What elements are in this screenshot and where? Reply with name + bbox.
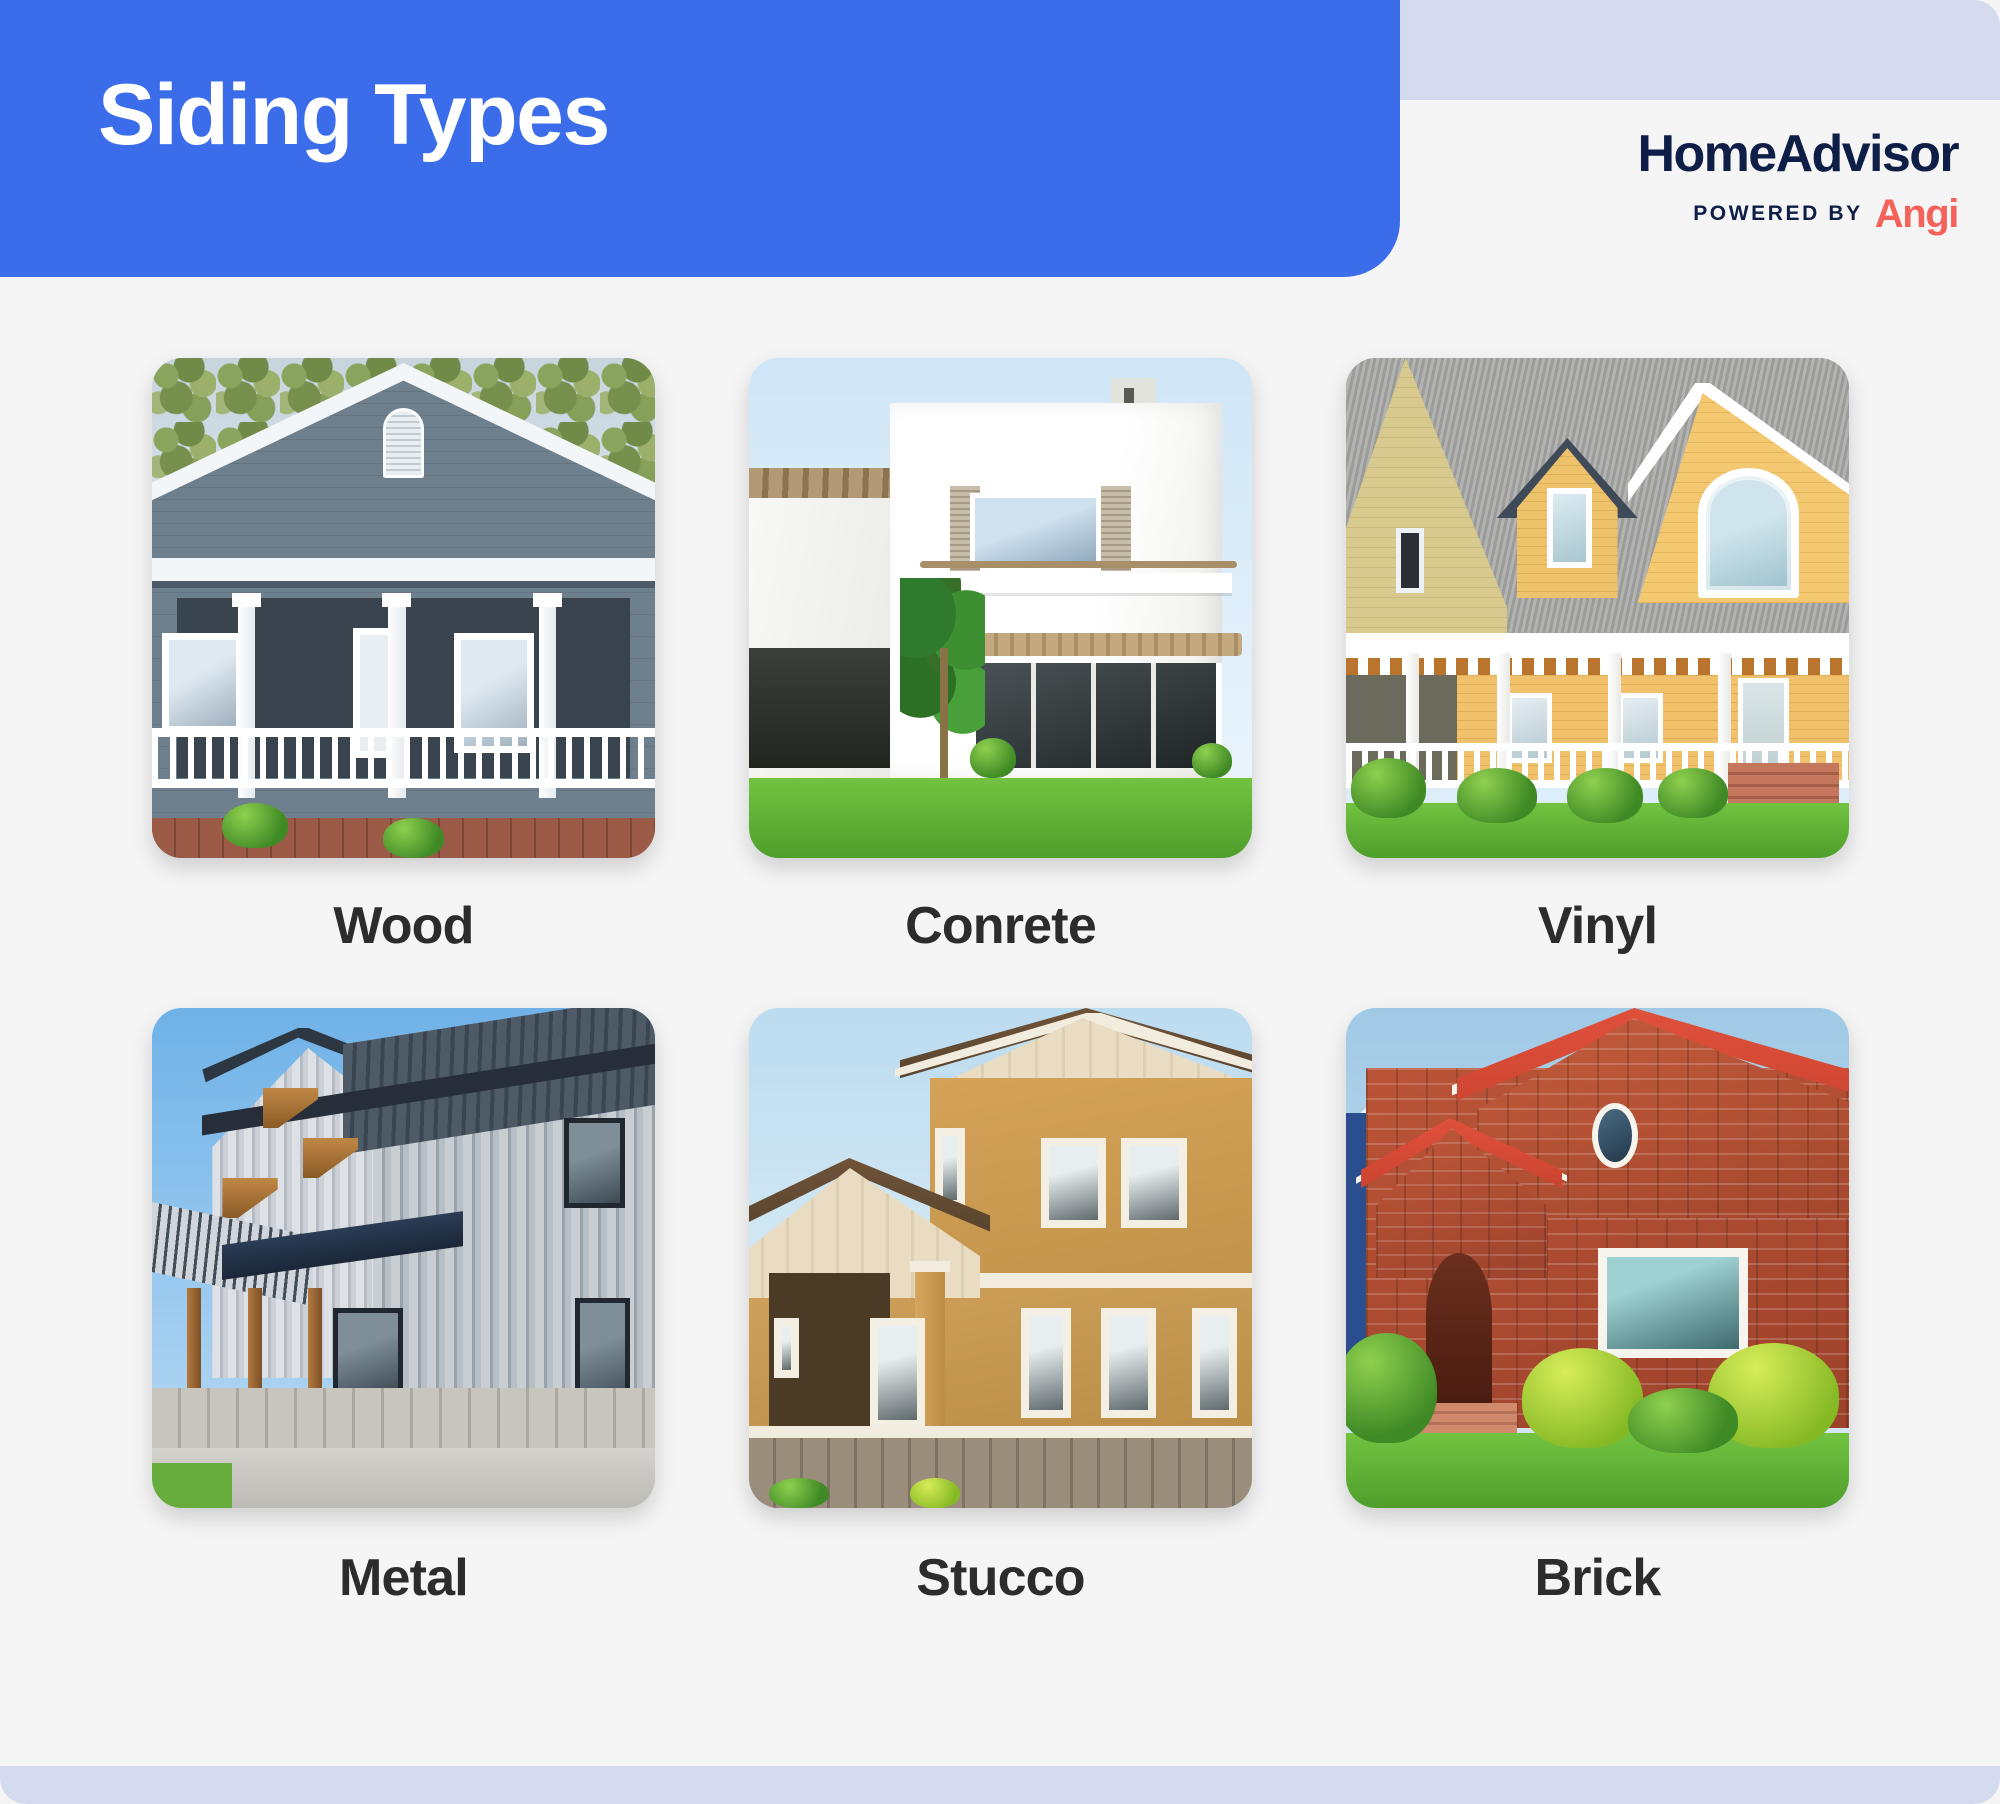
brand-lockup: HomeAdvisor POWERED BY Angi: [1638, 128, 1958, 234]
siding-tile-concrete[interactable]: Conrete: [749, 358, 1252, 956]
siding-tile-stucco[interactable]: Stucco: [749, 1008, 1252, 1608]
brand-name: HomeAdvisor: [1638, 128, 1958, 180]
tile-label-vinyl: Vinyl: [1346, 896, 1849, 956]
powered-by-label: POWERED BY: [1693, 202, 1863, 226]
bottom-accent-bar: [0, 1766, 2000, 1804]
brand-sub-lockup: POWERED BY Angi: [1638, 194, 1958, 234]
concrete-house-photo: [749, 358, 1252, 858]
tile-label-wood: Wood: [152, 896, 655, 956]
infographic-page: Siding Types HomeAdvisor POWERED BY Angi: [0, 0, 2000, 1804]
page-title: Siding Types: [98, 66, 609, 165]
top-right-accent-bar: [1400, 0, 2000, 100]
siding-types-grid: Wood: [152, 358, 1852, 1608]
tile-label-concrete: Conrete: [749, 896, 1252, 956]
wood-house-photo: [152, 358, 655, 858]
siding-tile-wood[interactable]: Wood: [152, 358, 655, 956]
stucco-house-photo: [749, 1008, 1252, 1508]
tile-label-metal: Metal: [152, 1548, 655, 1608]
siding-tile-metal[interactable]: Metal: [152, 1008, 655, 1608]
page-header: Siding Types: [0, 0, 1400, 277]
vinyl-house-photo: [1346, 358, 1849, 858]
tile-label-brick: Brick: [1346, 1548, 1849, 1608]
brick-house-photo: [1346, 1008, 1849, 1508]
metal-house-photo: [152, 1008, 655, 1508]
tile-label-stucco: Stucco: [749, 1548, 1252, 1608]
siding-tile-brick[interactable]: Brick: [1346, 1008, 1849, 1608]
angi-wordmark: Angi: [1875, 194, 1958, 234]
siding-tile-vinyl[interactable]: Vinyl: [1346, 358, 1849, 956]
